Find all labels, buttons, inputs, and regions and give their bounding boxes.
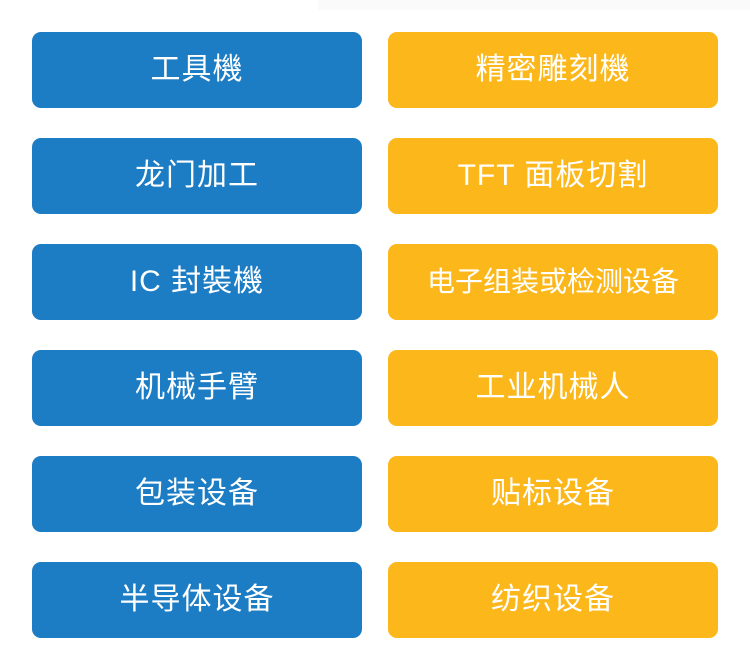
category-button-label: 包装设备	[135, 479, 259, 509]
category-button-label: IC 封裝機	[130, 267, 264, 297]
category-button-label: 龙门加工	[135, 161, 259, 191]
category-button-textile-equipment[interactable]: 纺织设备	[388, 562, 718, 638]
category-button-label: 工业机械人	[476, 373, 631, 403]
category-button-tft-panel-cutting[interactable]: TFT 面板切割	[388, 138, 718, 214]
category-button-label: 纺织设备	[491, 585, 615, 615]
category-button-gantry-machining[interactable]: 龙门加工	[32, 138, 362, 214]
category-button-grid: 工具機 精密雕刻機 龙门加工 TFT 面板切割 IC 封裝機 电子组装或检测设备…	[32, 32, 718, 638]
category-button-label: 精密雕刻機	[476, 55, 631, 85]
category-button-label: 机械手臂	[135, 373, 259, 403]
category-button-packaging-equipment[interactable]: 包装设备	[32, 456, 362, 532]
category-button-labelling-equipment[interactable]: 贴标设备	[388, 456, 718, 532]
category-button-precision-engraver[interactable]: 精密雕刻機	[388, 32, 718, 108]
category-button-industrial-robot[interactable]: 工业机械人	[388, 350, 718, 426]
category-button-ic-packaging-machine[interactable]: IC 封裝機	[32, 244, 362, 320]
category-button-label: 贴标设备	[491, 479, 615, 509]
category-button-robotic-arm[interactable]: 机械手臂	[32, 350, 362, 426]
category-button-electronic-assembly[interactable]: 电子组装或检测设备	[388, 244, 718, 320]
category-button-label: 半导体设备	[120, 585, 275, 615]
category-button-tool-machine[interactable]: 工具機	[32, 32, 362, 108]
category-button-label: TFT 面板切割	[458, 161, 649, 191]
category-button-label: 工具機	[151, 55, 244, 85]
top-decorative-strip	[318, 0, 750, 10]
category-button-label: 电子组装或检测设备	[427, 268, 679, 296]
category-button-semiconductor-equipment[interactable]: 半导体设备	[32, 562, 362, 638]
